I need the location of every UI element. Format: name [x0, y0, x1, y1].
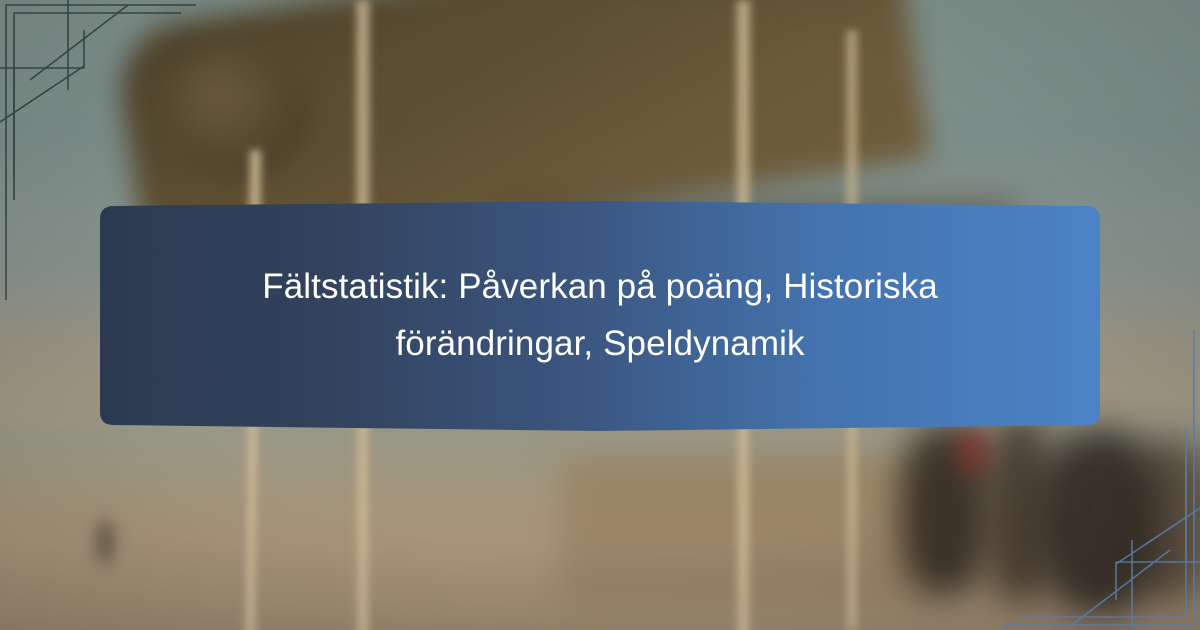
page-title: Fältstatistik: Påverkan på poäng, Histor…	[220, 259, 980, 372]
title-text-wrapper: Fältstatistik: Påverkan på poäng, Histor…	[160, 200, 1040, 432]
title-card: Fältstatistik: Påverkan på poäng, Histor…	[100, 200, 1100, 432]
poster-canvas: Fältstatistik: Påverkan på poäng, Histor…	[0, 0, 1200, 630]
